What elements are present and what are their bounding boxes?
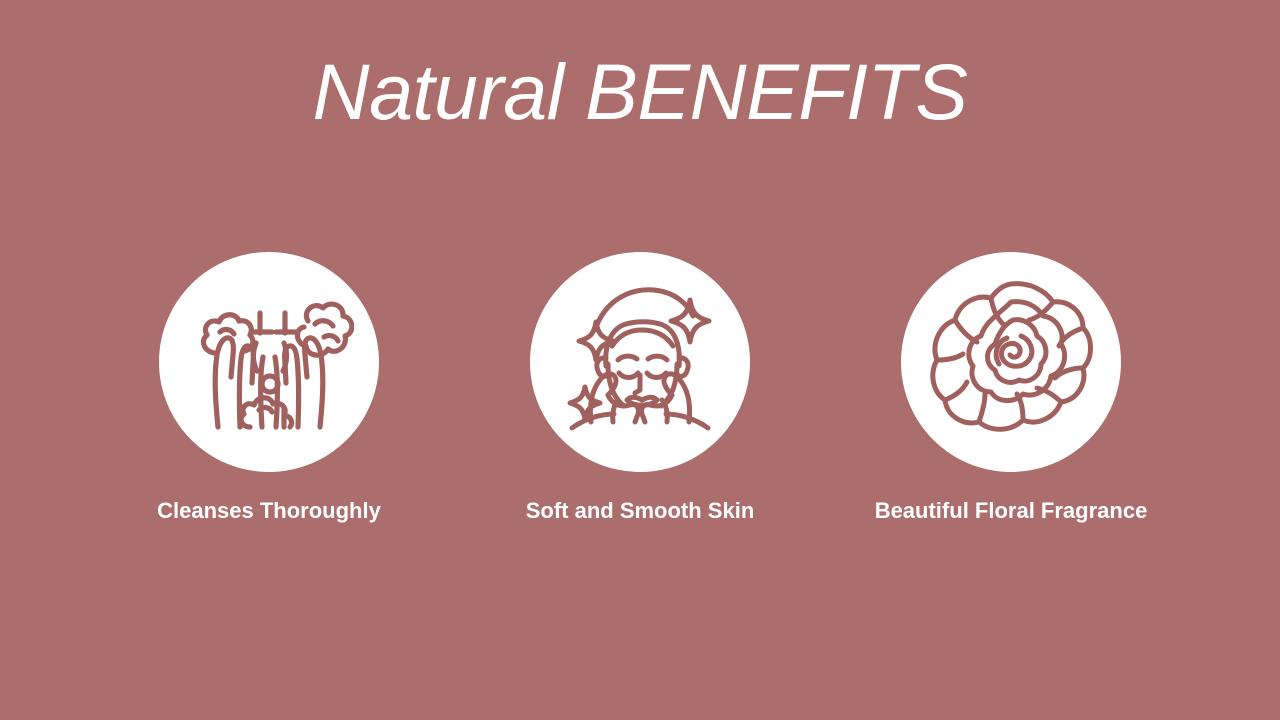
benefit-icon-circle: [901, 252, 1121, 472]
benefits-list: Cleanses Thoroughly: [0, 252, 1280, 523]
rose-flower-icon: [925, 276, 1097, 448]
benefit-card-fragrance: Beautiful Floral Fragrance: [901, 252, 1121, 523]
benefit-icon-circle: [530, 252, 750, 472]
benefit-card-soft-skin: Soft and Smooth Skin: [530, 252, 750, 523]
benefits-slide: Natural BENEFITS: [0, 0, 1280, 720]
page-title: Natural BENEFITS: [0, 52, 1280, 131]
benefit-label: Soft and Smooth Skin: [526, 499, 755, 523]
washing-hands-with-foam-icon: [184, 277, 354, 447]
benefit-label: Beautiful Floral Fragrance: [875, 499, 1148, 523]
benefit-label: Cleanses Thoroughly: [157, 499, 381, 523]
benefit-card-cleanses: Cleanses Thoroughly: [159, 252, 379, 523]
benefit-icon-circle: [159, 252, 379, 472]
face-with-hands-sparkles-icon: [550, 272, 730, 452]
